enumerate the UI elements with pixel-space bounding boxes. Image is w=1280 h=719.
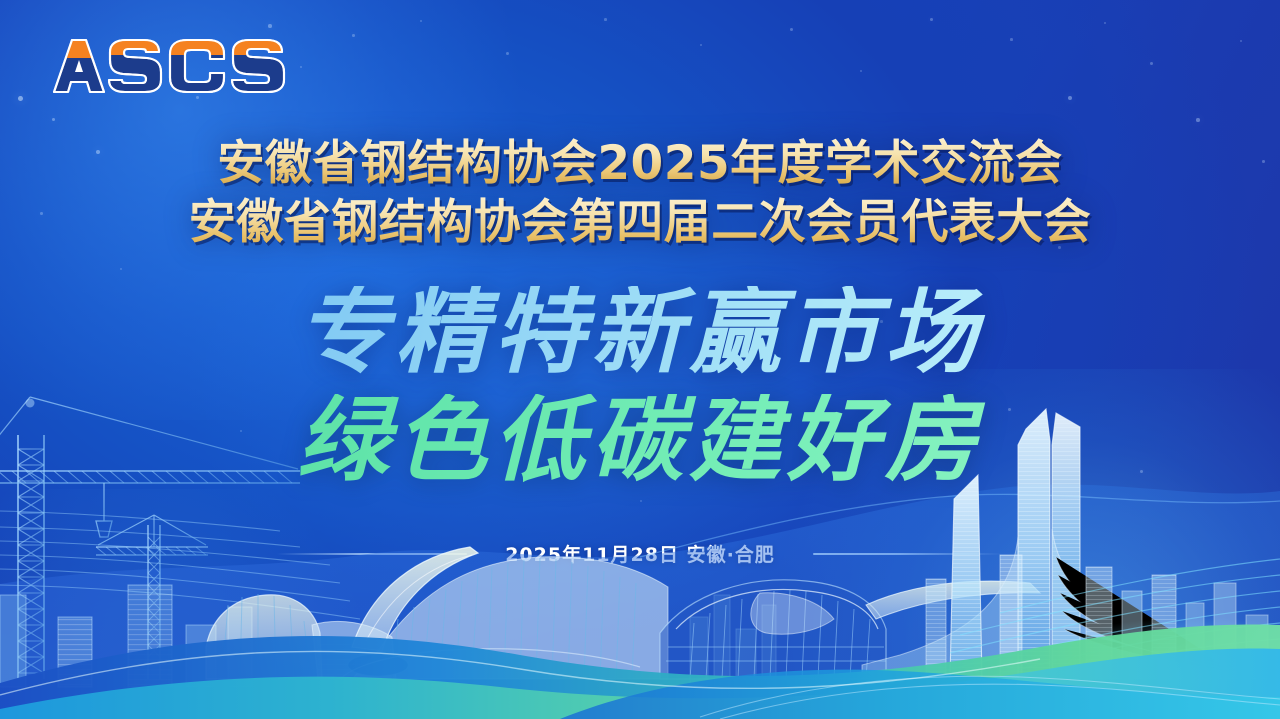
logo-letter-c: [162, 36, 232, 92]
title-block: 安徽省钢结构协会2025年度学术交流会 安徽省钢结构协会第四届二次会员代表大会: [0, 136, 1280, 251]
star-particle: [300, 66, 302, 68]
cityscape-artwork: [0, 379, 1280, 719]
star-particle: [1010, 38, 1013, 41]
star-particle: [506, 52, 509, 55]
title-line-1: 安徽省钢结构协会2025年度学术交流会: [0, 136, 1280, 191]
conference-banner: 安徽省钢结构协会2025年度学术交流会 安徽省钢结构协会第四届二次会员代表大会 …: [0, 0, 1280, 719]
slogan-line-1: 专精特新赢市场: [0, 286, 1280, 378]
star-particle: [120, 268, 122, 270]
star-particle: [604, 18, 607, 21]
star-particle: [420, 20, 422, 22]
logo-letter-s2: [224, 36, 286, 92]
star-particle: [18, 96, 23, 101]
ascs-logo: [46, 36, 286, 98]
star-particle: [1150, 62, 1153, 65]
star-particle: [52, 118, 55, 121]
logo-letter-s1: [101, 36, 171, 92]
star-particle: [1068, 96, 1072, 100]
star-particle: [352, 34, 355, 37]
star-particle: [1196, 118, 1200, 122]
star-particle: [860, 70, 862, 72]
logo-letter-a: [46, 36, 116, 92]
star-particle: [700, 44, 702, 46]
star-particle: [930, 18, 933, 21]
title-line-2: 安徽省钢结构协会第四届二次会员代表大会: [0, 195, 1280, 250]
star-particle: [1240, 40, 1242, 42]
star-particle: [790, 28, 793, 31]
star-particle: [268, 24, 272, 28]
star-particle: [1104, 22, 1106, 24]
